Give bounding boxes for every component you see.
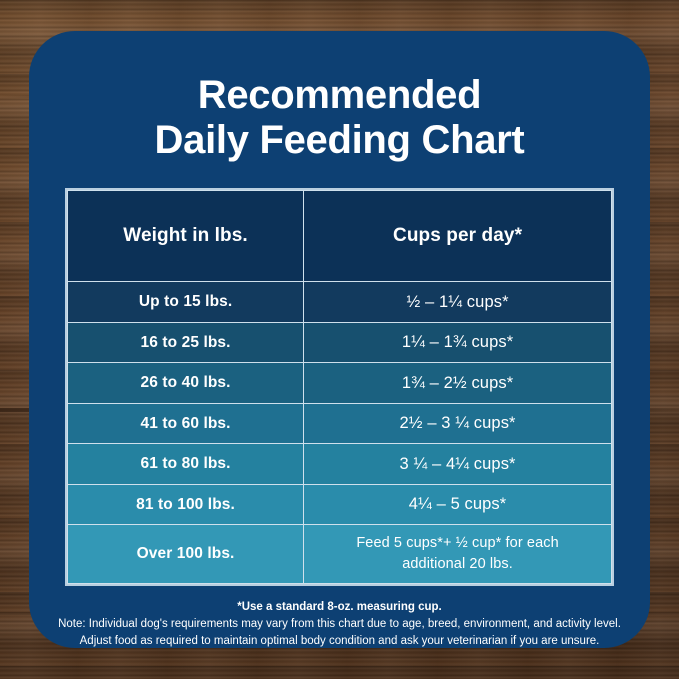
table-row: 26 to 40 lbs. 1¾ – 2½ cups* (68, 363, 612, 404)
page-title-line-2: Daily Feeding Chart (69, 118, 610, 163)
page-title-line-1: Recommended (69, 73, 610, 118)
cups-cell: 1¾ – 2½ cups* (304, 363, 612, 404)
column-header-weight: Weight in lbs. (68, 191, 304, 282)
weight-cell: Up to 15 lbs. (68, 282, 304, 323)
table-row: Over 100 lbs. Feed 5 cups*+ ½ cup* for e… (68, 525, 612, 584)
feeding-chart-card: Recommended Daily Feeding Chart Weight i… (29, 31, 650, 648)
weight-cell: 16 to 25 lbs. (68, 322, 304, 363)
weight-cell: 41 to 60 lbs. (68, 403, 304, 444)
page-title: Recommended Daily Feeding Chart (29, 31, 650, 163)
cups-cell: Feed 5 cups*+ ½ cup* for each additional… (304, 525, 612, 584)
cups-cell: ½ – 1¼ cups* (304, 282, 612, 323)
weight-cell: 61 to 80 lbs. (68, 444, 304, 485)
table-header: Weight in lbs. Cups per day* (68, 191, 612, 282)
cups-cell-line-2: additional 20 lbs. (402, 556, 513, 572)
footnote-note-line-2: Adjust food as required to maintain opti… (51, 633, 628, 648)
column-header-cups: Cups per day* (304, 191, 612, 282)
feeding-table-wrapper: Weight in lbs. Cups per day* Up to 15 lb… (65, 188, 614, 586)
cups-cell: 1¼ – 1¾ cups* (304, 322, 612, 363)
cups-cell: 2½ – 3 ¼ cups* (304, 403, 612, 444)
table-row: 16 to 25 lbs. 1¼ – 1¾ cups* (68, 322, 612, 363)
table-header-row: Weight in lbs. Cups per day* (68, 191, 612, 282)
cups-cell: 4¼ – 5 cups* (304, 484, 612, 525)
cups-cell: 3 ¼ – 4¼ cups* (304, 444, 612, 485)
weight-cell: Over 100 lbs. (68, 525, 304, 584)
table-row: Up to 15 lbs. ½ – 1¼ cups* (68, 282, 612, 323)
footnote-note-line-1: Note: Individual dog's requirements may … (51, 616, 628, 633)
weight-cell: 26 to 40 lbs. (68, 363, 304, 404)
table-row: 61 to 80 lbs. 3 ¼ – 4¼ cups* (68, 444, 612, 485)
table-row: 41 to 60 lbs. 2½ – 3 ¼ cups* (68, 403, 612, 444)
footnote-standard-cup: *Use a standard 8-oz. measuring cup. (51, 599, 628, 616)
weight-cell: 81 to 100 lbs. (68, 484, 304, 525)
table-row: 81 to 100 lbs. 4¼ – 5 cups* (68, 484, 612, 525)
footnotes: *Use a standard 8-oz. measuring cup. Not… (51, 599, 628, 648)
feeding-table: Weight in lbs. Cups per day* Up to 15 lb… (67, 190, 612, 584)
table-body: Up to 15 lbs. ½ – 1¼ cups* 16 to 25 lbs.… (68, 282, 612, 584)
cups-cell-line-1: Feed 5 cups*+ ½ cup* for each (356, 535, 558, 551)
